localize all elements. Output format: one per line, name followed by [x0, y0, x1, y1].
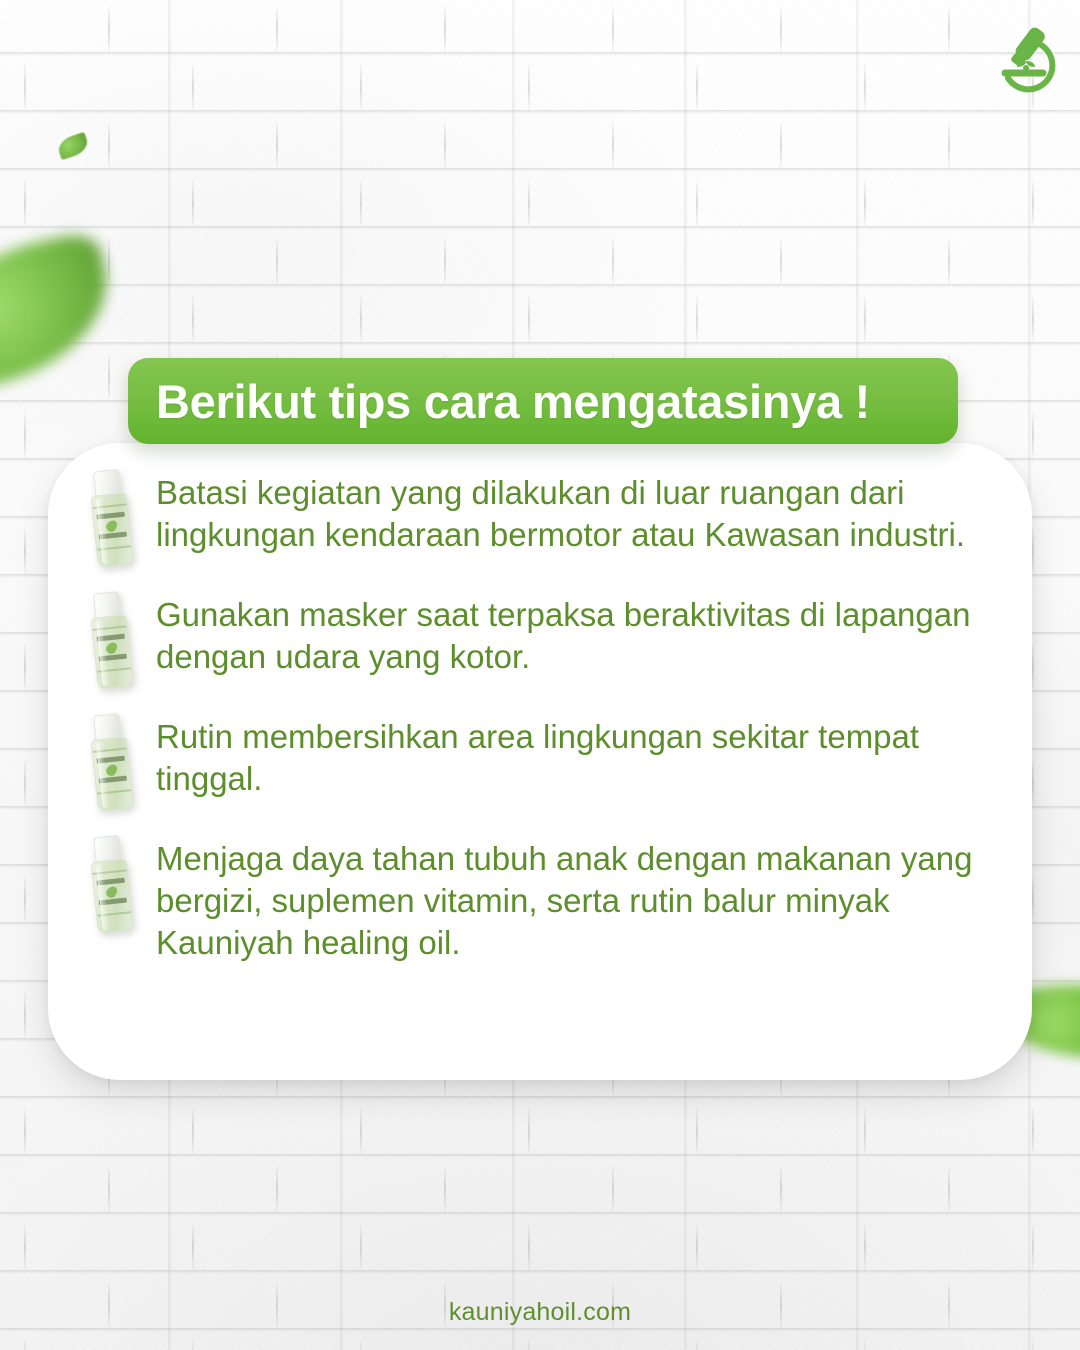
oil-bottle-icon	[85, 590, 139, 690]
tip-text: Gunakan masker saat terpaksa beraktivita…	[156, 592, 1032, 678]
banner-title: Berikut tips cara mengatasinya !	[128, 374, 870, 429]
tip-text: Menjaga daya tahan tubuh anak dengan mak…	[156, 836, 1032, 965]
oil-bottle-icon	[85, 834, 139, 934]
poster-canvas: Berikut tips cara mengatasinya ! Batasi …	[0, 0, 1080, 1350]
microscope-leaf-icon	[990, 20, 1062, 98]
banner-header: Berikut tips cara mengatasinya !	[128, 358, 958, 444]
tip-item: Gunakan masker saat terpaksa beraktivita…	[48, 592, 1032, 688]
tips-list: Batasi kegiatan yang dilakukan di luar r…	[48, 470, 1032, 991]
tip-item: Rutin membersihkan area lingkungan sekit…	[48, 714, 1032, 810]
tip-text: Rutin membersihkan area lingkungan sekit…	[156, 714, 1032, 800]
tip-item: Menjaga daya tahan tubuh anak dengan mak…	[48, 836, 1032, 965]
tip-item: Batasi kegiatan yang dilakukan di luar r…	[48, 470, 1032, 566]
oil-bottle-icon	[85, 468, 139, 568]
tip-text: Batasi kegiatan yang dilakukan di luar r…	[156, 470, 1032, 556]
oil-bottle-icon	[85, 712, 139, 812]
footer-website: kauniyahoil.com	[0, 1298, 1080, 1327]
